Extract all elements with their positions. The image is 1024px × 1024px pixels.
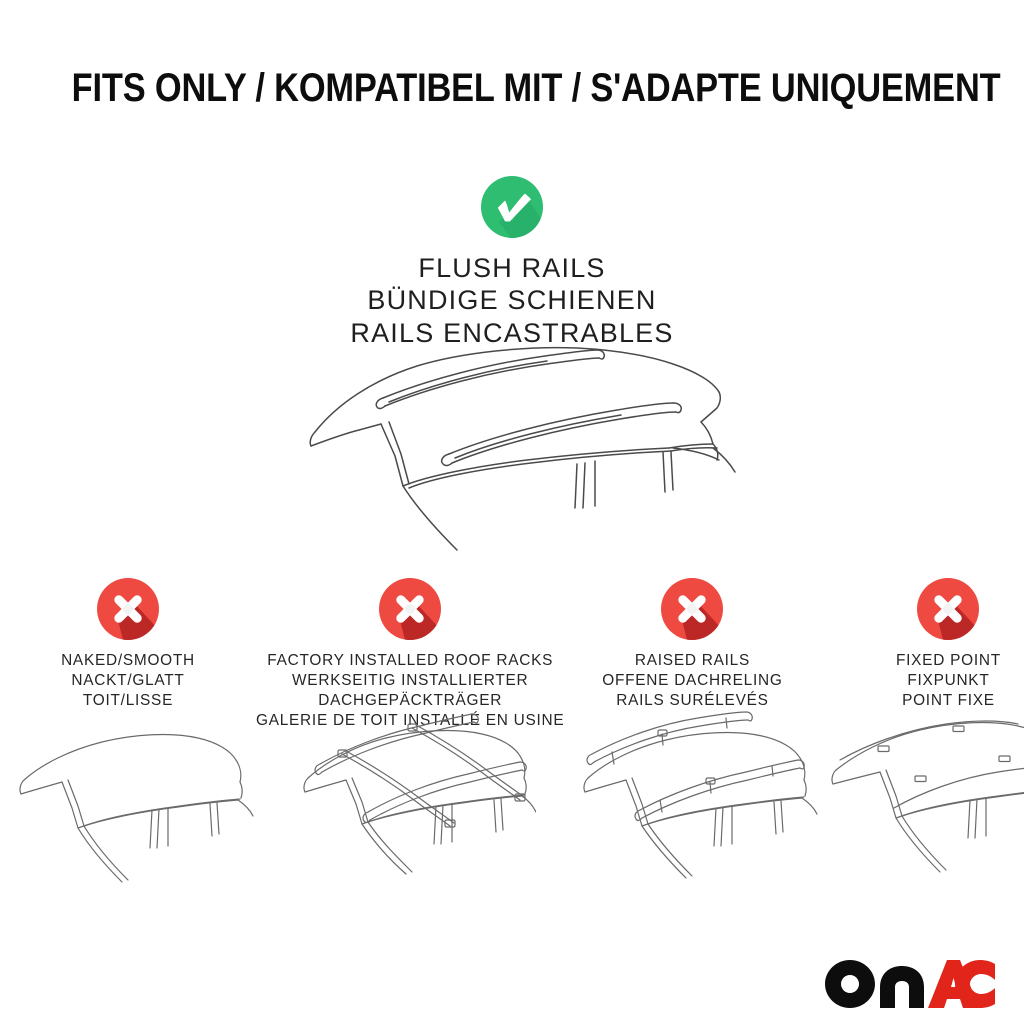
check-glyph-icon <box>481 176 543 238</box>
x-glyph-icon <box>661 578 723 640</box>
incompatible-column-factory-racks: FACTORY INSTALLED ROOF RACKS WERKSEITIG … <box>256 578 564 731</box>
omac-logo <box>824 956 996 1012</box>
label-de: NACKT/GLATT <box>0 671 256 691</box>
x-circle-icon <box>917 578 979 640</box>
page-title: FITS ONLY / KOMPATIBEL MIT / S'ADAPTE UN… <box>72 68 953 108</box>
incompatible-labels: RAISED RAILS OFFENE DACHRELING RAILS SUR… <box>564 651 820 711</box>
header: FITS ONLY / KOMPATIBEL MIT / S'ADAPTE UN… <box>0 68 1024 108</box>
car-roof-raised-rails-illustration <box>566 708 818 898</box>
x-circle-icon <box>379 578 441 640</box>
label-en: FACTORY INSTALLED ROOF RACKS <box>256 651 564 671</box>
incompatible-labels: NAKED/SMOOTH NACKT/GLATT TOIT/LISSE <box>0 651 256 711</box>
incompatible-column-fixed-point: FIXED POINT FIXPUNKT POINT FIXE <box>820 578 1024 731</box>
label-de: FIXPUNKT <box>820 671 1024 691</box>
x-glyph-icon <box>917 578 979 640</box>
incompatible-section: NAKED/SMOOTH NACKT/GLATT TOIT/LISSE <box>0 578 1024 731</box>
car-roof-flush-rails-illustration <box>277 336 747 566</box>
x-glyph-icon <box>97 578 159 640</box>
incompatible-column-naked: NAKED/SMOOTH NACKT/GLATT TOIT/LISSE <box>0 578 256 731</box>
car-roof-factory-racks-illustration <box>284 702 536 892</box>
incompatible-column-raised-rails: RAISED RAILS OFFENE DACHRELING RAILS SUR… <box>564 578 820 731</box>
label-de: OFFENE DACHRELING <box>564 671 820 691</box>
car-roof-naked-illustration <box>2 720 254 910</box>
omac-logo-mark <box>824 956 996 1012</box>
check-circle-icon <box>481 176 543 238</box>
logo-letter-o <box>825 960 875 1008</box>
logo-letter-m <box>880 966 924 1008</box>
incompatible-labels: FIXED POINT FIXPUNKT POINT FIXE <box>820 651 1024 711</box>
compatible-labels: FLUSH RAILS BÜNDIGE SCHIENEN RAILS ENCAS… <box>0 252 1024 349</box>
label-en: FIXED POINT <box>820 651 1024 671</box>
compatible-section: FLUSH RAILS BÜNDIGE SCHIENEN RAILS ENCAS… <box>0 176 1024 349</box>
label-en: NAKED/SMOOTH <box>0 651 256 671</box>
x-circle-icon <box>661 578 723 640</box>
compatible-label-en: FLUSH RAILS <box>0 252 1024 284</box>
label-fr: POINT FIXE <box>820 691 1024 711</box>
label-de-1: WERKSEITIG INSTALLIERTER <box>256 671 564 691</box>
x-circle-icon <box>97 578 159 640</box>
x-glyph-icon <box>379 578 441 640</box>
car-roof-fixed-point-illustration <box>822 712 1024 902</box>
compatible-label-de: BÜNDIGE SCHIENEN <box>0 284 1024 316</box>
fitment-infographic: FITS ONLY / KOMPATIBEL MIT / S'ADAPTE UN… <box>0 0 1024 1024</box>
label-fr: TOIT/LISSE <box>0 691 256 711</box>
label-en: RAISED RAILS <box>564 651 820 671</box>
